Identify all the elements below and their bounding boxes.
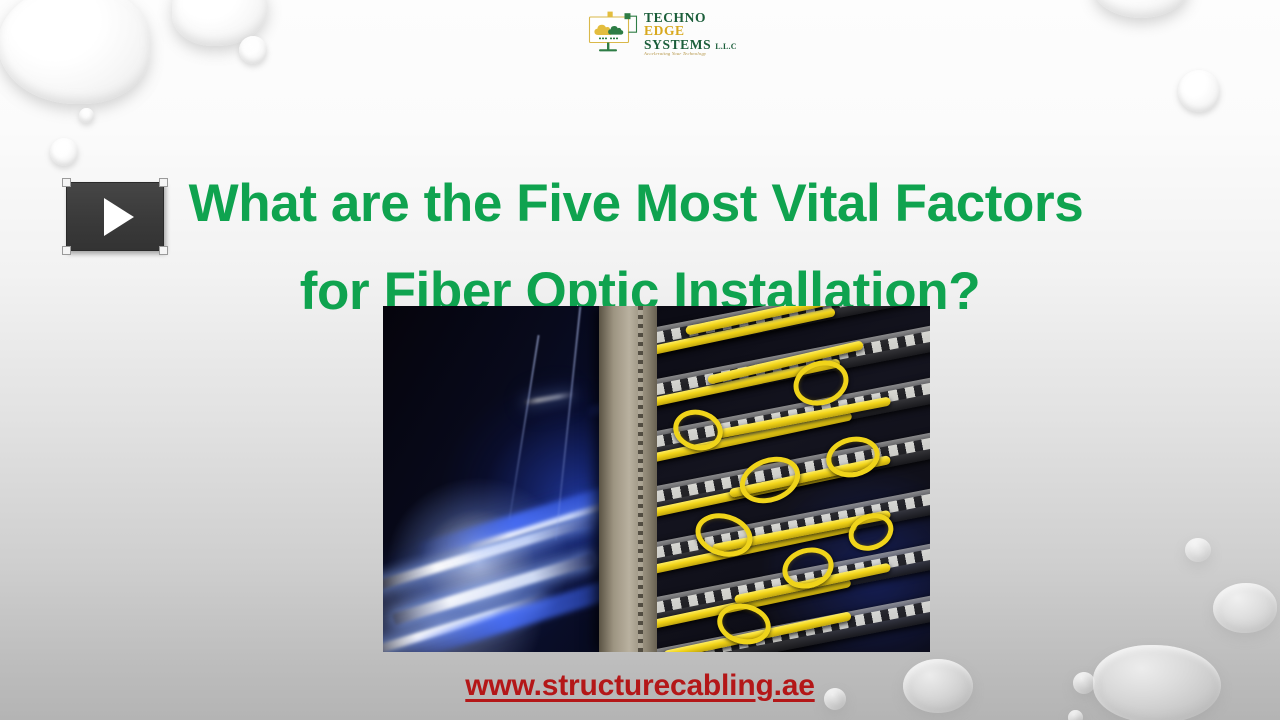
video-frame[interactable] [66,182,164,251]
water-droplet-decoration [172,0,268,46]
water-droplet-decoration [1068,710,1083,720]
resize-handle-bottom-left[interactable] [62,246,71,255]
logo-line-edge: EDGE [644,24,737,38]
title-line-1: What are the Five Most Vital Factors [0,160,1280,248]
photo-rack-post [599,306,665,652]
logo-line-systems: SYSTEMS L.L.C [644,38,737,52]
monitor-cloud-network-icon [586,11,640,57]
water-droplet-decoration [1178,70,1220,112]
water-droplet-decoration [79,108,94,123]
website-url-link[interactable]: www.structurecabling.ae [465,669,814,702]
play-triangle-icon[interactable] [104,198,134,236]
water-droplet-decoration [1213,583,1277,633]
photo-right-region [657,306,931,652]
video-placeholder[interactable] [66,182,164,251]
company-logo: TECHNO EDGE SYSTEMS L.L.C Accelerating Y… [586,6,752,62]
fiber-optic-rack-photo [383,306,930,652]
resize-handle-top-right[interactable] [159,178,168,187]
logo-wordmark: TECHNO EDGE SYSTEMS L.L.C Accelerating Y… [644,11,737,57]
logo-systems-text: SYSTEMS [644,37,711,52]
water-droplet-decoration [1185,538,1211,562]
website-url[interactable]: www.structurecabling.ae [0,669,1280,703]
resize-handle-top-left[interactable] [62,178,71,187]
resize-handle-bottom-right[interactable] [159,246,168,255]
presentation-slide: TECHNO EDGE SYSTEMS L.L.C Accelerating Y… [0,0,1280,720]
water-droplet-decoration [0,0,150,104]
water-droplet-decoration [239,36,267,64]
water-droplet-decoration [1093,0,1189,18]
logo-llc-suffix: L.L.C [715,42,736,51]
logo-line-techno: TECHNO [644,11,737,25]
logo-tagline: Accelerating Your Technology [644,52,737,57]
